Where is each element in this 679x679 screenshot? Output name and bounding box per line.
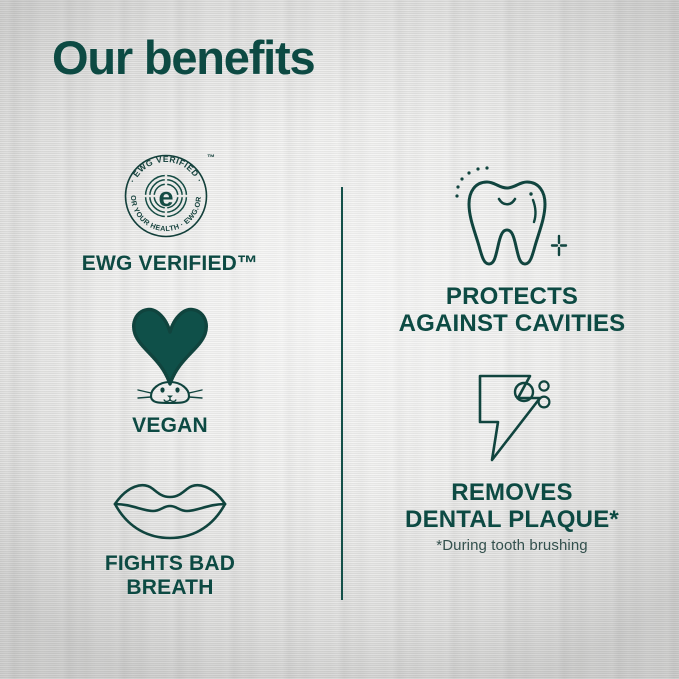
lightning-bolt-bubbles-icon	[362, 368, 662, 464]
benefit-label: FIGHTS BAD BREATH	[20, 552, 320, 599]
benefit-label: VEGAN	[20, 414, 320, 438]
bunny-heart-ears-icon	[20, 296, 320, 404]
ewg-verified-seal-icon: · EWG VERIFIED · · FOR YOUR HEALTH · EWG…	[20, 146, 320, 242]
benefit-protects-against-cavities: PROTECTS AGAINST CAVITIES	[362, 158, 662, 338]
svg-text:e: e	[158, 182, 173, 212]
benefit-vegan: VEGAN	[20, 296, 320, 438]
lips-icon	[20, 470, 320, 540]
benefit-ewg-verified: · EWG VERIFIED · · FOR YOUR HEALTH · EWG…	[20, 146, 320, 276]
column-divider	[341, 187, 343, 600]
benefit-label: REMOVES DENTAL PLAQUE*	[362, 480, 662, 534]
benefit-label: EWG VERIFIED™	[20, 252, 320, 276]
benefit-fights-bad-breath: FIGHTS BAD BREATH	[20, 470, 320, 599]
svg-text:™: ™	[207, 153, 215, 162]
benefits-infographic: Our benefits · EWG VERIFIED ·	[0, 0, 679, 679]
benefit-label: PROTECTS AGAINST CAVITIES	[362, 284, 662, 338]
benefit-removes-dental-plaque: REMOVES DENTAL PLAQUE* *During tooth bru…	[362, 368, 662, 554]
page-title: Our benefits	[52, 32, 314, 84]
sparkling-tooth-icon	[362, 158, 662, 270]
benefit-footnote: *During tooth brushing	[362, 537, 662, 554]
